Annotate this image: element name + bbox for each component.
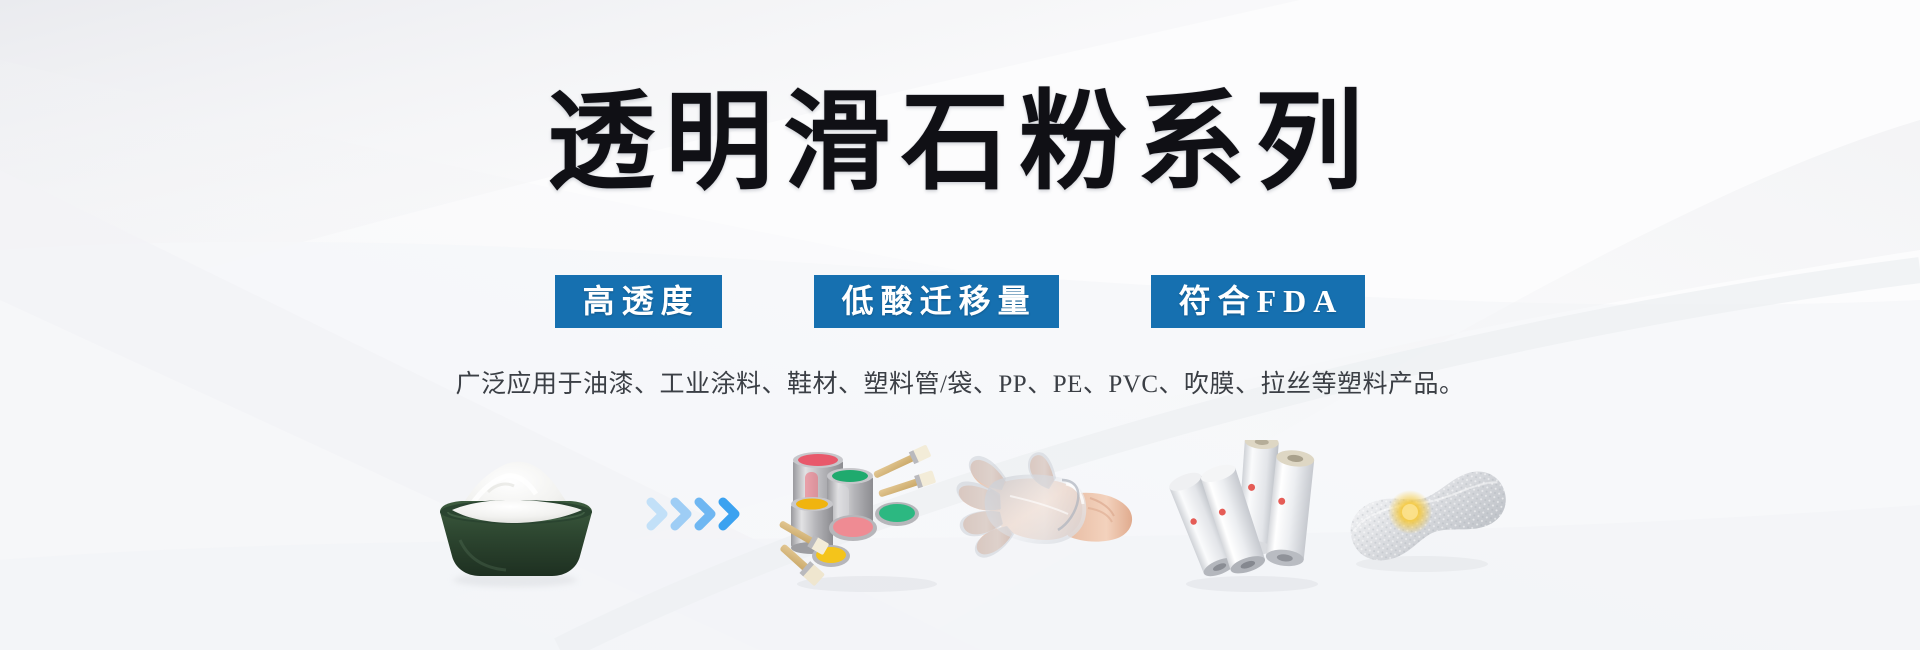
feature-badge-fda-compliant[interactable]: 符合FDA: [1151, 275, 1366, 328]
plastic-glove-hand-image: [950, 452, 1150, 582]
plastic-film-rolls-image: [1160, 440, 1340, 600]
process-arrows-icon: [645, 490, 755, 538]
application-description: 广泛应用于油漆、工业涂料、鞋材、塑料管/袋、PP、PE、PVC、吹膜、拉丝等塑料…: [0, 368, 1920, 402]
application-image-strip: [0, 430, 1920, 610]
page-title: 透明滑石粉系列: [0, 86, 1920, 202]
paint-cans-image: [775, 442, 955, 602]
product-banner: 透明滑石粉系列 高透度 低酸迁移量 符合FDA 广泛应用于油漆、工业涂料、鞋材、…: [0, 0, 1920, 650]
shoe-sole-image: [1330, 460, 1510, 580]
feature-badge-high-transparency[interactable]: 高透度: [555, 275, 722, 328]
talc-powder-bowl-image: [410, 452, 620, 592]
feature-badge-group: 高透度 低酸迁移量 符合FDA: [0, 275, 1920, 328]
feature-badge-low-acid-migration[interactable]: 低酸迁移量: [814, 275, 1059, 328]
